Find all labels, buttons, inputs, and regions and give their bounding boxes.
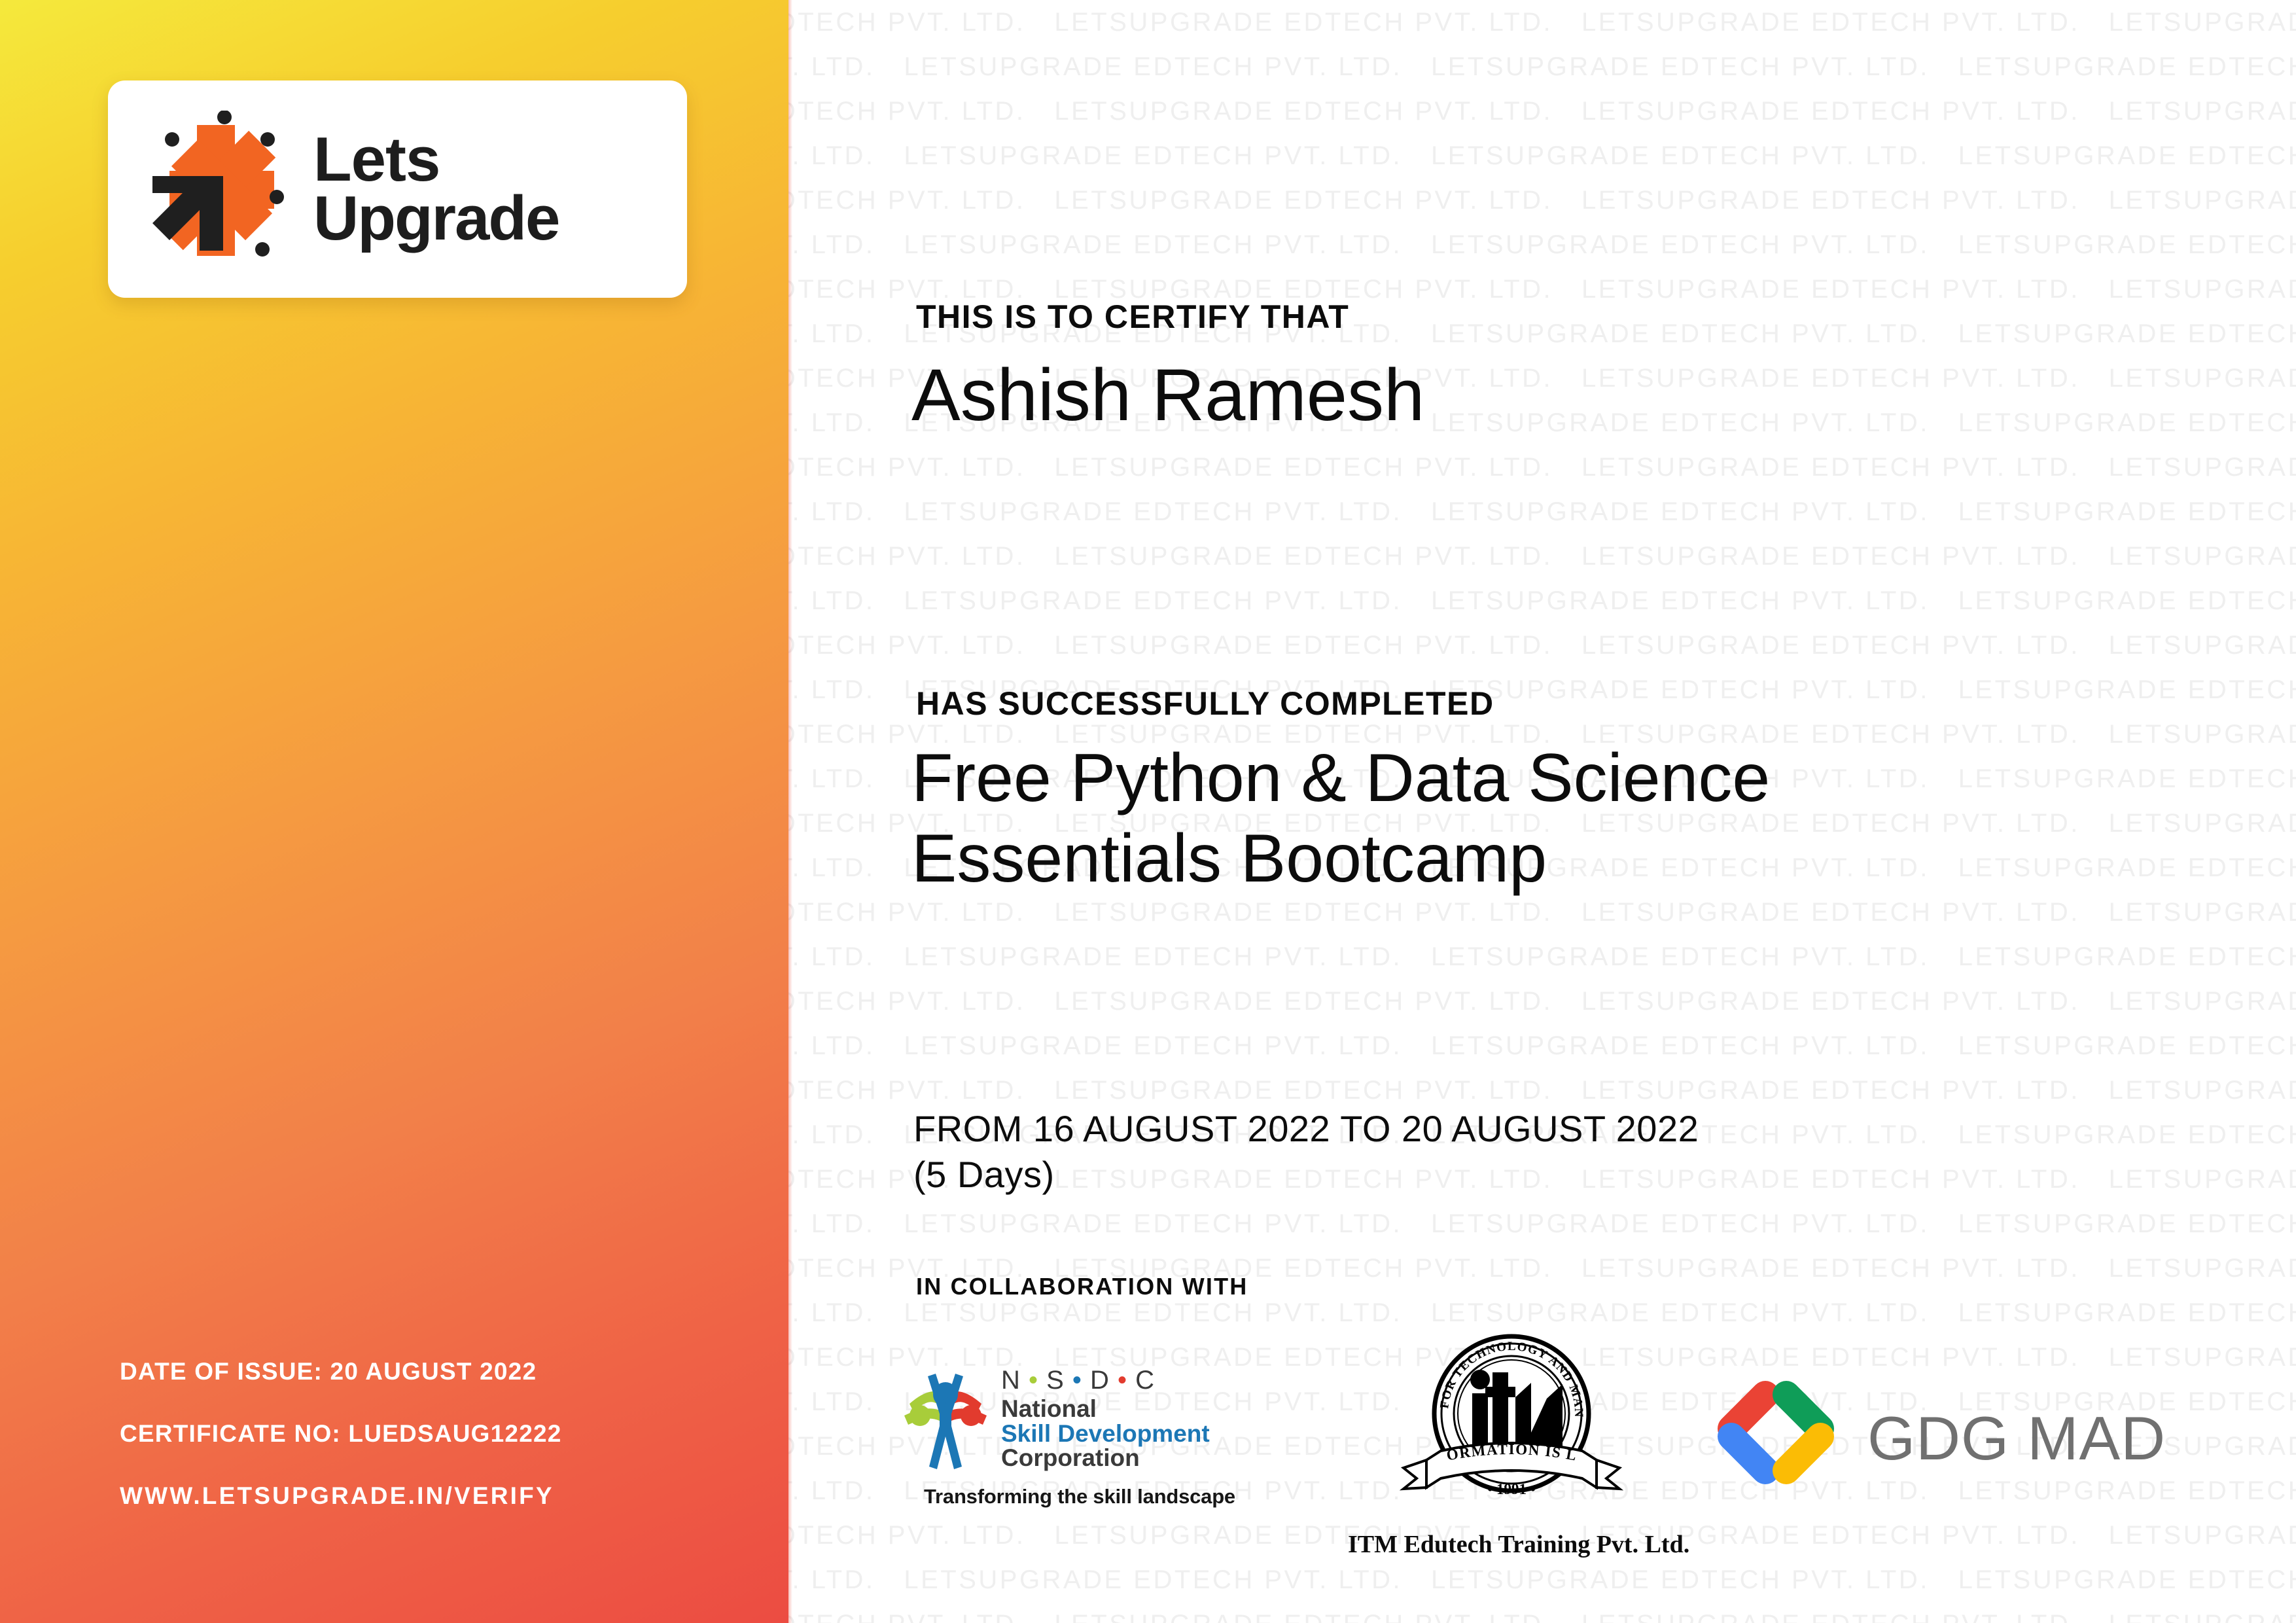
itm-partner: INSTITUTE FOR TECHNOLOGY AND MANAGEMENT [1348,1332,1675,1559]
brand-wordmark-line2: Upgrade [313,189,559,248]
recipient-name: Ashish Ramesh [911,353,1424,438]
course-title-line1: Free Python & Data Science [911,738,2155,819]
collaboration-label: IN COLLABORATION WITH [916,1273,1248,1300]
certificate-body: THIS IS TO CERTIFY THAT Ashish Ramesh HA… [916,0,2264,1623]
nsdc-letter-d: D [1090,1366,1110,1395]
gdg-label: GDG MAD [1867,1403,2166,1474]
nsdc-acronym: N • S • D • C [1001,1367,1210,1393]
gdg-partner: GDG MAD [1714,1378,2166,1499]
gradient-edge-fade [788,0,792,1623]
partner-logo-row: N • S • D • C National Skill Development… [896,1345,2270,1561]
verify-url[interactable]: WWW.LETSUPGRADE.IN/VERIFY [120,1482,741,1510]
brand-logo-card: Lets Upgrade [108,80,687,298]
course-dates: FROM 16 AUGUST 2022 TO 20 AUGUST 2022 (5… [913,1106,1699,1198]
nsdc-name-line1: National [1001,1397,1210,1421]
brand-wordmark: Lets Upgrade [313,130,559,248]
nsdc-partner: N • S • D • C National Skill Development… [896,1363,1263,1508]
certificate-page: LETSUPGRADE EDTECH PVT. LTD. LETSUPGRADE… [0,0,2296,1623]
certificate-meta-block: DATE OF ISSUE: 20 AUGUST 2022 CERTIFICAT… [120,1358,741,1510]
nsdc-name-line2: Skill Development [1001,1421,1210,1446]
itm-seal-icon: INSTITUTE FOR TECHNOLOGY AND MANAGEMENT [1348,1332,1675,1525]
certify-label: THIS IS TO CERTIFY THAT [916,298,1349,336]
brand-wordmark-line1: Lets [313,130,559,189]
itm-caption: ITM Edutech Training Pvt. Ltd. [1348,1530,1675,1559]
nsdc-letter-c: C [1135,1366,1155,1395]
svg-text:• 1991 •: • 1991 • [1487,1481,1536,1497]
course-title-line2: Essentials Bootcamp [911,819,2155,899]
letsupgrade-asterisk-icon [146,111,296,268]
completed-label: HAS SUCCESSFULLY COMPLETED [916,685,1494,722]
course-title: Free Python & Data Science Essentials Bo… [911,738,2155,899]
nsdc-letter-n: N [1001,1366,1021,1395]
nsdc-people-icon [896,1363,995,1474]
nsdc-name-line3: Corporation [1001,1446,1210,1471]
course-date-range: FROM 16 AUGUST 2022 TO 20 AUGUST 2022 [913,1106,1699,1152]
date-of-issue: DATE OF ISSUE: 20 AUGUST 2022 [120,1358,741,1385]
nsdc-letter-s: S [1046,1366,1065,1395]
nsdc-tagline: Transforming the skill landscape [896,1485,1263,1508]
course-duration: (5 Days) [913,1152,1699,1198]
certificate-number: CERTIFICATE NO: LUEDSAUG12222 [120,1420,741,1448]
gdg-chevron-icon [1714,1378,1845,1499]
